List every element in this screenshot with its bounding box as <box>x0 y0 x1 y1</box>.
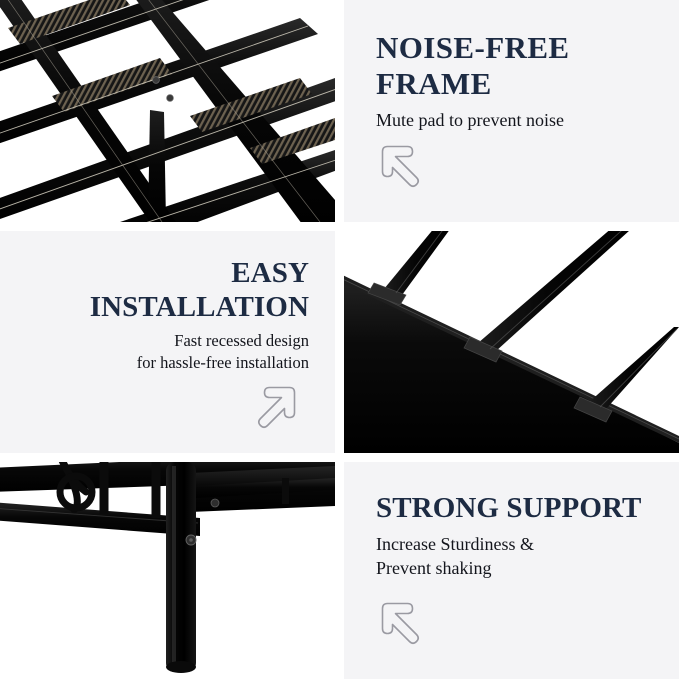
photo-panel-support-leg <box>0 462 335 679</box>
bed-frame-slat-grid-illustration <box>0 0 335 222</box>
text-panel-strong-support: STRONG SUPPORT Increase Sturdiness & Pre… <box>344 462 679 679</box>
text-panel-noise-free-frame: NOISE-FREE FRAME Mute pad to prevent noi… <box>344 0 679 222</box>
text-panel-easy-installation: EASY INSTALLATION Fast recessed design f… <box>0 231 335 453</box>
panel-subtext-strong-support: Increase Sturdiness & Prevent shaking <box>376 532 534 580</box>
arrow-up-left-icon <box>376 142 422 190</box>
panel-heading-noise-free-frame: NOISE-FREE FRAME <box>376 30 569 102</box>
panel-heading-easy-installation: EASY INSTALLATION <box>90 257 309 324</box>
panel-subtext-noise-free-frame: Mute pad to prevent noise <box>376 108 564 132</box>
bed-frame-recessed-slat-illustration <box>344 231 679 453</box>
photo-panel-slat-grid <box>0 0 335 222</box>
photo-panel-recessed-slats <box>344 231 679 453</box>
bed-frame-leg-illustration <box>0 462 335 679</box>
panel-heading-strong-support: STRONG SUPPORT <box>376 492 641 526</box>
product-feature-infographic: NOISE-FREE FRAME Mute pad to prevent noi… <box>0 0 679 679</box>
panel-subtext-easy-installation: Fast recessed design for hassle-free ins… <box>137 330 309 373</box>
arrow-up-left-icon <box>376 599 422 647</box>
arrow-up-right-icon <box>255 383 301 431</box>
